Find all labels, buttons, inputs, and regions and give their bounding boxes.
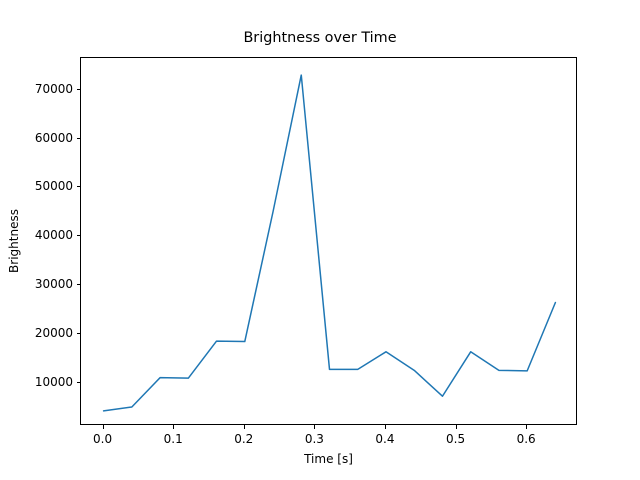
x-tick-label: 0.2 (234, 432, 253, 446)
x-tick-mark (314, 425, 315, 429)
x-tick-mark (103, 425, 104, 429)
y-tick-label: 70000 (35, 82, 73, 96)
y-tick-label: 10000 (35, 375, 73, 389)
x-tick-label: 0.1 (164, 432, 183, 446)
x-tick-mark (456, 425, 457, 429)
chart-title: Brightness over Time (0, 30, 640, 46)
data-line-svg (81, 58, 578, 426)
x-tick-mark (526, 425, 527, 429)
x-tick-mark (385, 425, 386, 429)
y-tick-mark (77, 333, 81, 334)
matplotlib-figure: Brightness over Time 1000020000300004000… (0, 0, 640, 480)
y-tick-mark (77, 284, 81, 285)
y-axis-label-text: Brightness (7, 209, 21, 273)
y-tick-label: 50000 (35, 179, 73, 193)
brightness-line (104, 75, 556, 411)
y-tick-label: 30000 (35, 277, 73, 291)
y-tick-label: 40000 (35, 228, 73, 242)
x-tick-mark (173, 425, 174, 429)
x-axis-label: Time [s] (80, 452, 577, 466)
x-tick-mark (244, 425, 245, 429)
y-tick-label: 60000 (35, 131, 73, 145)
x-tick-label: 0.4 (375, 432, 394, 446)
y-tick-mark (77, 382, 81, 383)
y-tick-mark (77, 186, 81, 187)
x-tick-label: 0.6 (517, 432, 536, 446)
y-tick-label: 20000 (35, 326, 73, 340)
y-tick-mark (77, 138, 81, 139)
x-tick-label: 0.0 (93, 432, 112, 446)
y-tick-mark (77, 235, 81, 236)
plot-axes-area (80, 57, 577, 425)
x-tick-label: 0.5 (446, 432, 465, 446)
x-tick-label: 0.3 (305, 432, 324, 446)
y-tick-mark (77, 89, 81, 90)
